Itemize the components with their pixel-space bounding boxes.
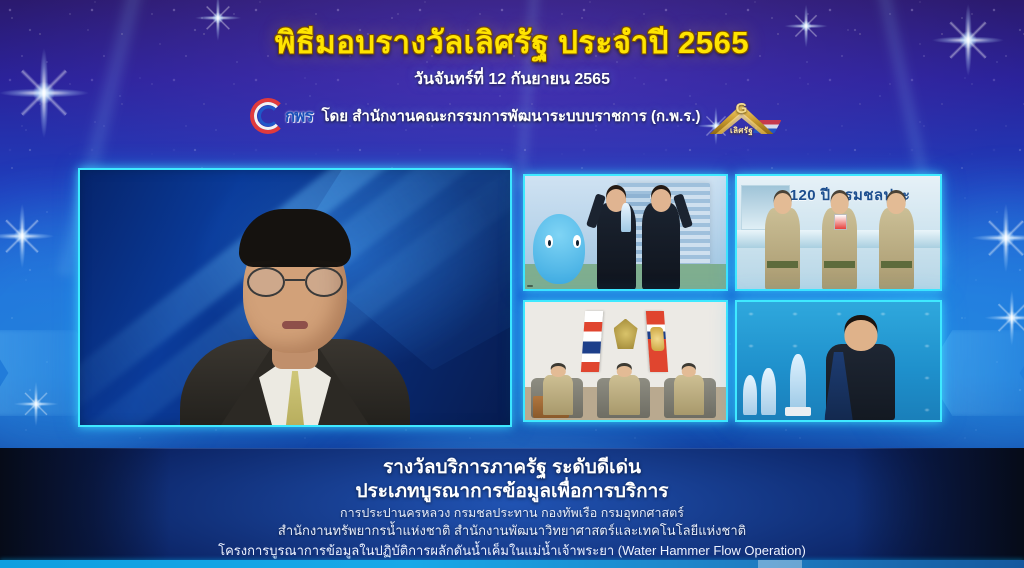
scene-awardee-with-trophy [737,302,940,420]
award-caption-band: รางวัลบริการภาครัฐ ระดับดีเด่น ประเภทบูร… [0,448,1024,561]
bottom-accent-strip [0,560,1024,568]
video-tile-top-left[interactable] [523,174,728,291]
caption-inner: รางวัลบริการภาครัฐ ระดับดีเด่น ประเภทบูร… [0,448,1024,560]
agencies-line-1: การประปานครหลวง กรมชลประทาน กองทัพเรือ ก… [0,505,1024,523]
video-tile-bottom-left[interactable] [523,300,728,422]
held-trophy-icon [790,354,806,411]
event-header: พิธีมอบรางวัลเลิศรัฐ ประจำปี 2565 วันจัน… [0,0,1024,150]
tile-caption [527,285,533,287]
trophy-shelf-icon-2 [761,368,775,415]
star-flare-mid-right [960,192,1024,284]
award-title-line-1: รางวัลบริการภาครัฐ ระดับดีเด่น [0,456,1024,480]
scene-award-two-executives [525,176,726,289]
scene-royal-irrigation-officials: 120 ปี กรมชลประ [737,176,940,289]
lertrath-award-logo-icon: G เลิศรัฐ [710,96,774,136]
event-date: วันจันทร์ที่ 12 กันยายน 2565 [0,67,1024,92]
trophy-shelf-icon-1 [743,375,757,415]
speaker-figure [165,185,425,425]
video-tile-main-speaker[interactable] [78,168,512,427]
opdc-logo-icon: กพร [250,98,312,134]
page-title: พิธีมอบรางวัลเลิศรัฐ ประจำปี 2565 [0,26,1024,60]
trophy-icon [620,203,630,232]
agencies-line-2: สำนักงานทรัพยากรน้ำแห่งชาติ สำนักงานพัฒน… [0,522,1024,540]
award-logo-mark: G [736,100,748,117]
organizer-row: กพร โดย สำนักงานคณะกรรมการพัฒนาระบบบราชก… [0,96,1024,136]
opdc-logo-text: กพร [285,103,313,130]
award-logo-label: เลิศรัฐ [730,124,753,137]
water-droplet-mascot-icon [533,214,585,284]
star-flare-right-low [975,281,1024,355]
star-flare-mid-left [0,193,65,279]
organizer-name: โดย สำนักงานคณะกรรมการพัฒนาระบบบราชการ (… [321,104,700,128]
video-tile-top-right[interactable]: 120 ปี กรมชลประ [735,174,942,291]
project-title: โครงการบูรณาการข้อมูลในปฏิบัติการผลักดัน… [0,542,1024,560]
star-flare-left-low [6,374,66,434]
award-title-line-2: ประเภทบูรณาการข้อมูลเพื่อการบริการ [0,480,1024,504]
broadcast-stage: พิธีมอบรางวัลเลิศรัฐ ประจำปี 2565 วันจัน… [0,0,1024,568]
award-card-icon [834,214,846,230]
video-tile-bottom-right[interactable] [735,300,942,422]
speaker-hair [239,209,351,267]
bottom-strip-notch [758,560,802,568]
speaker-glasses-icon [247,267,343,297]
navy-flag-icon [645,311,667,372]
scene-navy-meeting-room [525,302,726,420]
